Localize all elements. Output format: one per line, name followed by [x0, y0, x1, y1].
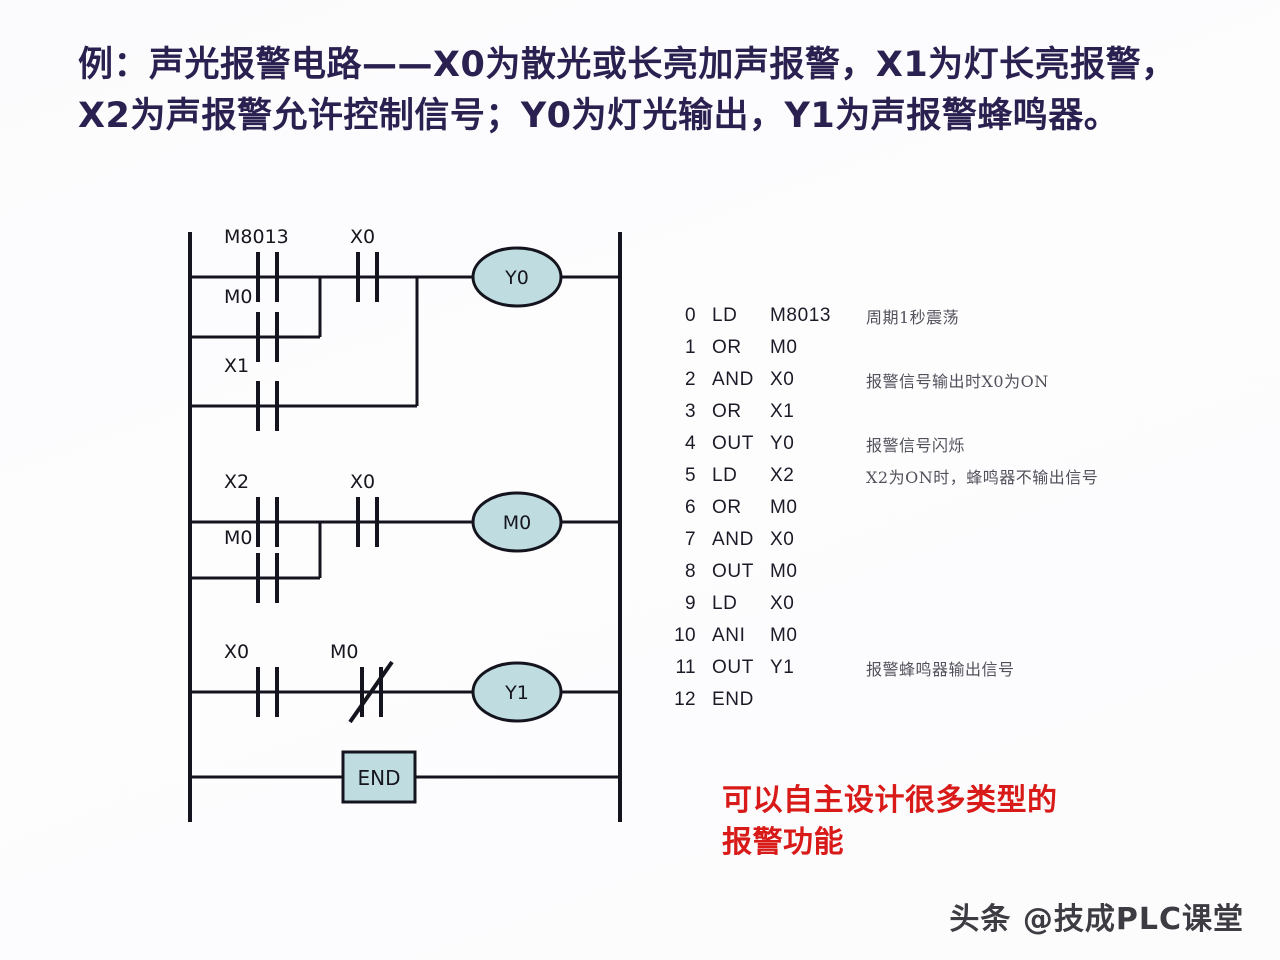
instruction-row: 10 ANI M0 — [662, 620, 1162, 652]
contact-label-x0-rung1: X0 — [350, 226, 375, 248]
instruction-opcode: END — [696, 689, 764, 711]
red-annotation-line-1: 可以自主设计很多类型的 — [722, 780, 1152, 822]
contact-label-x1: X1 — [224, 355, 249, 377]
instruction-step-number: 12 — [662, 689, 696, 711]
instruction-row: 6 OR M0 — [662, 492, 1162, 524]
instruction-step-number: 2 — [662, 369, 696, 391]
instruction-row: 7 AND X0 — [662, 524, 1162, 556]
instruction-opcode: ANI — [696, 625, 764, 647]
instruction-row: 4 OUT Y0 报警信号闪烁 — [662, 428, 1162, 460]
instruction-opcode: AND — [696, 529, 764, 551]
instruction-operand: X0 — [764, 593, 848, 615]
instruction-operand: Y1 — [764, 657, 848, 679]
instruction-row: 0 LD M8013 周期1秒震荡 — [662, 300, 1162, 332]
instruction-step-number: 7 — [662, 529, 696, 551]
instruction-opcode: OUT — [696, 433, 764, 455]
instruction-opcode: OR — [696, 337, 764, 359]
instruction-operand: X0 — [764, 529, 848, 551]
instruction-step-number: 5 — [662, 465, 696, 487]
instruction-opcode: LD — [696, 305, 764, 327]
instruction-opcode: OR — [696, 401, 764, 423]
instruction-opcode: LD — [696, 465, 764, 487]
instruction-row: 11 OUT Y1 报警蜂鸣器输出信号 — [662, 652, 1162, 684]
instruction-opcode: OUT — [696, 657, 764, 679]
instruction-comment: 周期1秒震荡 — [848, 304, 959, 328]
instruction-row: 9 LD X0 — [662, 588, 1162, 620]
contact-label-m8013: M8013 — [224, 226, 289, 248]
instruction-operand: X2 — [764, 465, 848, 487]
instruction-step-number: 6 — [662, 497, 696, 519]
instruction-operand: M0 — [764, 337, 848, 359]
instruction-row: 3 OR X1 — [662, 396, 1162, 428]
instruction-opcode: LD — [696, 593, 764, 615]
contact-label-x2: X2 — [224, 471, 249, 493]
contact-label-x0-rung3: X0 — [224, 641, 249, 663]
contact-label-x0-rung2: X0 — [350, 471, 375, 493]
instruction-row: 8 OUT M0 — [662, 556, 1162, 588]
instruction-comment: 报警信号闪烁 — [848, 432, 965, 456]
instruction-list: 0 LD M8013 周期1秒震荡 1 OR M0 2 AND X0 报警信号输… — [662, 300, 1162, 716]
coil-label-m0: M0 — [503, 512, 531, 534]
watermark: 头条 @技成PLC课堂 — [949, 894, 1244, 938]
instruction-row: 2 AND X0 报警信号输出时X0为ON — [662, 364, 1162, 396]
instruction-opcode: OUT — [696, 561, 764, 583]
instruction-opcode: AND — [696, 369, 764, 391]
instruction-operand: M0 — [764, 561, 848, 583]
instruction-comment: X2为ON时，蜂鸣器不输出信号 — [848, 464, 1098, 488]
instruction-step-number: 0 — [662, 305, 696, 327]
contact-label-m0-rung1: M0 — [224, 286, 252, 308]
instruction-step-number: 10 — [662, 625, 696, 647]
ladder-diagram: M8013 X0 M0 X1 Y0 X2 X0 M0 M0 X0 M0 — [0, 0, 700, 900]
instruction-operand: M0 — [764, 625, 848, 647]
instruction-row: 5 LD X2 X2为ON时，蜂鸣器不输出信号 — [662, 460, 1162, 492]
instruction-row: 1 OR M0 — [662, 332, 1162, 364]
coil-label-y0: Y0 — [504, 267, 529, 289]
instruction-step-number: 1 — [662, 337, 696, 359]
coil-label-y1: Y1 — [504, 682, 529, 704]
instruction-comment: 报警蜂鸣器输出信号 — [848, 656, 1015, 680]
contact-label-m0-rung2: M0 — [224, 527, 252, 549]
instruction-comment: 报警信号输出时X0为ON — [848, 368, 1049, 392]
instruction-step-number: 4 — [662, 433, 696, 455]
contact-label-m0-nc: M0 — [330, 641, 358, 663]
red-annotation: 可以自主设计很多类型的 报警功能 — [722, 780, 1152, 864]
instruction-step-number: 9 — [662, 593, 696, 615]
instruction-step-number: 3 — [662, 401, 696, 423]
instruction-step-number: 11 — [662, 657, 696, 679]
instruction-opcode: OR — [696, 497, 764, 519]
instruction-operand: M8013 — [764, 305, 848, 327]
instruction-row: 12 END — [662, 684, 1162, 716]
instruction-operand: X1 — [764, 401, 848, 423]
instruction-operand: X0 — [764, 369, 848, 391]
end-instruction-label: END — [358, 766, 401, 790]
instruction-step-number: 8 — [662, 561, 696, 583]
instruction-operand: Y0 — [764, 433, 848, 455]
red-annotation-line-2: 报警功能 — [722, 822, 1152, 864]
instruction-operand: M0 — [764, 497, 848, 519]
